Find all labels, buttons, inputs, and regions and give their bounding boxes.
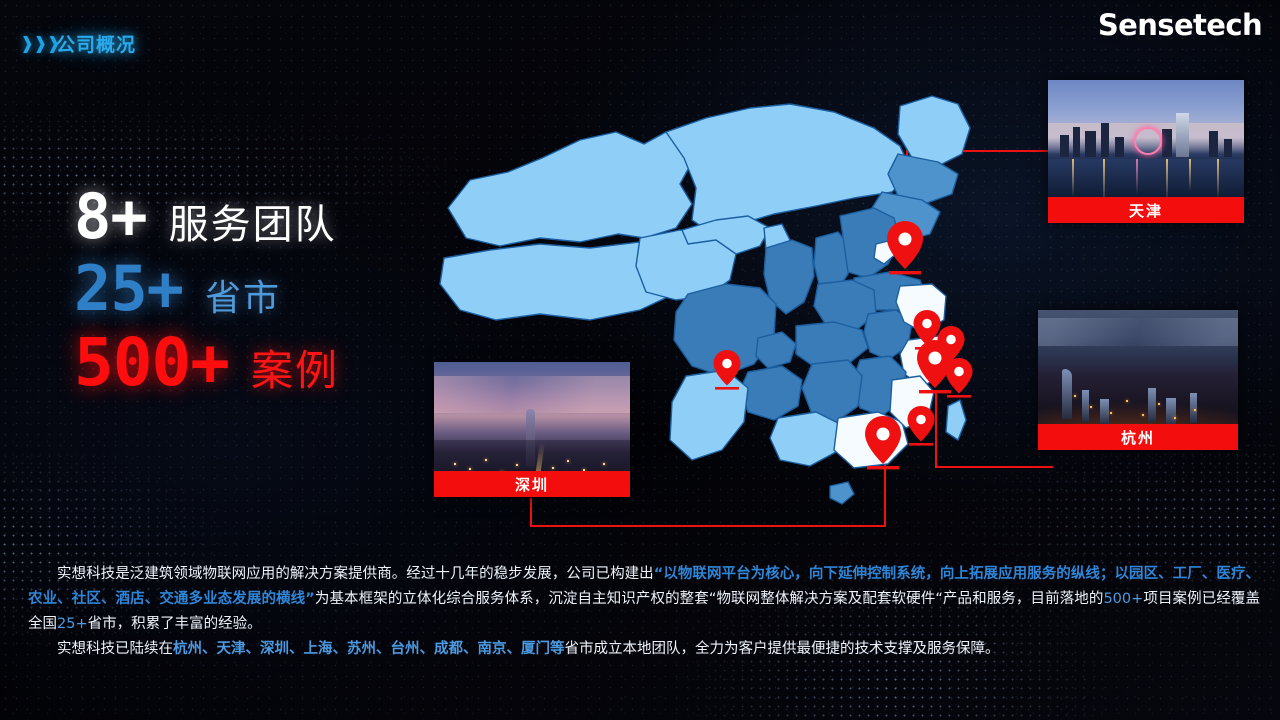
stat-number-cases: 500+: [74, 330, 229, 396]
para1-number-provinces: 25+: [57, 616, 88, 632]
para1-part-a: 实想科技是泛建筑领域物联网应用的解决方案提供商。经过十几年的稳步发展，公司已构建…: [57, 566, 654, 582]
paragraph-1: 实想科技是泛建筑领域物联网应用的解决方案提供商。经过十几年的稳步发展，公司已构建…: [28, 562, 1260, 637]
city-card-caption-shenzhen: 深圳: [434, 471, 630, 497]
description-paragraph: 实想科技是泛建筑领域物联网应用的解决方案提供商。经过十几年的稳步发展，公司已构建…: [28, 562, 1260, 662]
paragraph-2: 实想科技已陆续在杭州、天津、深圳、上海、苏州、台州、成都、南京、厦门等省市成立本…: [28, 637, 1260, 662]
stat-row-teams: 8+ 服务团队: [74, 186, 339, 248]
brand-logo: Sensetech: [1098, 8, 1262, 42]
page-title: 公司概况: [56, 30, 136, 57]
para1-part-b: 为基本框架的立体化综合服务体系，沉淀自主知识产权的整套“物联网整体解决方案及配套…: [315, 591, 1104, 607]
stat-row-cases: 500+ 案例: [74, 330, 339, 396]
stats-block: 8+ 服务团队 25+ 省市 500+ 案例: [74, 186, 339, 406]
para1-part-d: 省市，积累了丰富的经验。: [88, 616, 262, 632]
chevrons-right-icon: ❱❱❱: [20, 34, 59, 54]
stat-label-provinces: 省市: [205, 280, 281, 316]
city-card-tianjin[interactable]: 天津: [1048, 80, 1244, 223]
city-photo-shenzhen: 深圳: [434, 362, 630, 497]
city-card-shenzhen[interactable]: 深圳: [434, 362, 630, 497]
stat-label-teams: 服务团队: [169, 205, 337, 245]
stat-number-teams: 8+: [74, 186, 147, 248]
para1-number-cases: 500+: [1103, 591, 1143, 607]
stat-row-provinces: 25+ 省市: [74, 258, 339, 320]
city-photo-hangzhou: 杭州: [1038, 310, 1238, 450]
city-card-caption-tianjin: 天津: [1048, 197, 1244, 223]
stat-number-provinces: 25+: [74, 258, 183, 320]
para2-highlight-cities: 杭州、天津、深圳、上海、苏州、台州、成都、南京、厦门等: [173, 641, 565, 657]
para2-part-b: 省市成立本地团队，全力为客户提供最便捷的技术支撑及服务保障。: [565, 641, 1000, 657]
para2-part-a: 实想科技已陆续在: [57, 641, 173, 657]
stat-label-cases: 案例: [251, 350, 339, 392]
city-card-hangzhou[interactable]: 杭州: [1038, 310, 1238, 450]
city-photo-tianjin: 天津: [1048, 80, 1244, 223]
city-card-caption-hangzhou: 杭州: [1038, 424, 1238, 450]
slide-root: ❱❱❱ 公司概况 Sensetech 8+ 服务团队 25+ 省市 500+ 案…: [0, 0, 1280, 720]
